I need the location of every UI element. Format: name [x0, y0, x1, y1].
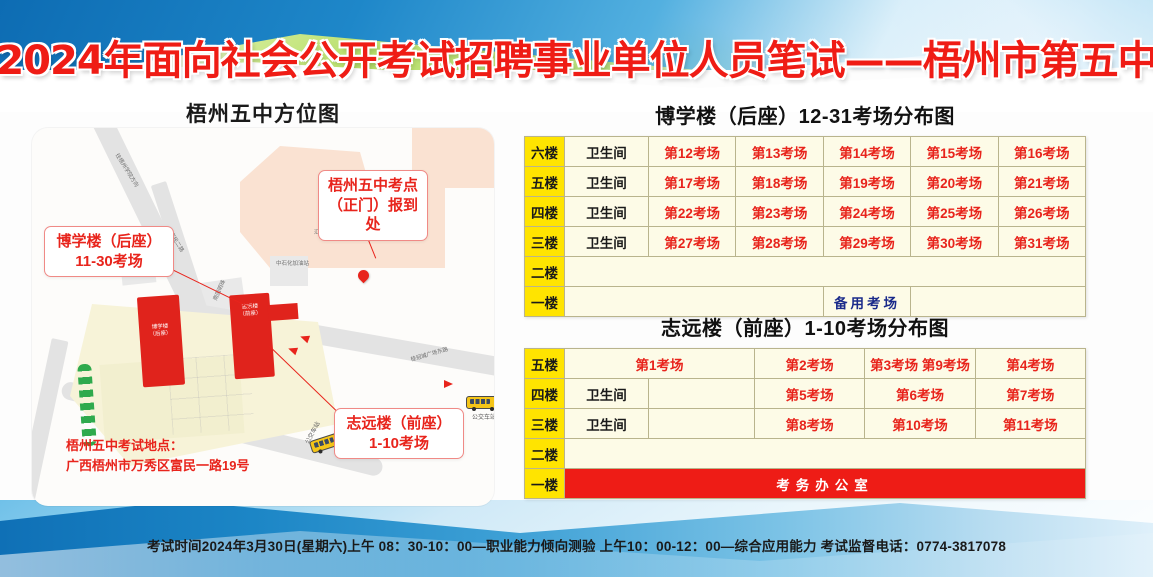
floor-label: 六楼: [525, 137, 565, 167]
cell-room: 第30考场: [911, 227, 998, 257]
cell-empty: [649, 379, 755, 409]
cell-empty: [565, 257, 1086, 287]
map-building-connector: [267, 303, 298, 321]
cell-exam-office: 考务办公室: [565, 469, 1086, 499]
cell-room: 第24考场: [823, 197, 910, 227]
cell-room: 第1考场: [565, 349, 755, 379]
table-row: 二楼: [525, 439, 1086, 469]
map-title: 梧州五中方位图: [22, 98, 504, 128]
floor-label: 二楼: [525, 257, 565, 287]
floor-label: 二楼: [525, 439, 565, 469]
map-label-sinopec: 中石化加油站: [276, 260, 309, 268]
cell-room: 第7考场: [975, 379, 1085, 409]
callout-boxue-line2: 11-30考场: [75, 253, 143, 270]
cell-room: 第29考场: [823, 227, 910, 257]
bus-stop-label-east: 公交车站: [472, 412, 494, 421]
table-boxue-title: 博学楼（后座）12-31考场分布图: [524, 100, 1086, 129]
floor-label: 四楼: [525, 197, 565, 227]
cell-room: 第21考场: [998, 167, 1085, 197]
floor-label: 一楼: [525, 469, 565, 499]
table-row: 四楼 卫生间 第5考场 第6考场 第7考场: [525, 379, 1086, 409]
cell-empty: [565, 439, 1086, 469]
poster-root: 梧州市2024年面向社会公开考试招聘事业单位人员笔试——梧州市第五中学考点 梧州…: [0, 0, 1153, 577]
cell-restroom: 卫生间: [565, 197, 649, 227]
cell-restroom: 卫生间: [565, 137, 649, 167]
cell-room: 第19考场: [823, 167, 910, 197]
map-address-line2: 广西梧州市万秀区富民一路19号: [66, 456, 249, 476]
footer-notice: 考试时间2024年3月30日(星期六)上午 08：30-10：00—职业能力倾向…: [0, 535, 1153, 555]
cell-room: 第31考场: [998, 227, 1085, 257]
map-address: 梧州五中考试地点： 广西梧州市万秀区富民一路19号: [66, 436, 249, 476]
map-road-west-vertical: [32, 338, 68, 506]
cell-room: 第4考场: [975, 349, 1085, 379]
floor-label: 五楼: [525, 349, 565, 379]
table-zhiyuan: 五楼 第1考场 第2考场 第3考场 第9考场 第4考场 四楼 卫生间 第5考场 …: [524, 348, 1086, 499]
callout-zhiyuan-line2: 1-10考场: [369, 435, 429, 452]
map-direction-arrow: [444, 380, 453, 388]
map-building-boxue[interactable]: 博学楼 （后座）: [137, 295, 185, 388]
cell-room: 第28考场: [736, 227, 823, 257]
table-boxue: 六楼 卫生间 第12考场 第13考场 第14考场 第15考场 第16考场 五楼 …: [524, 136, 1086, 317]
map-address-line1: 梧州五中考试地点：: [66, 436, 249, 456]
cell-room: 第27考场: [649, 227, 736, 257]
cell-room: 第2考场: [755, 349, 865, 379]
map-panel: 梧州五中方位图 博学楼 （后座）: [22, 96, 504, 508]
callout-entrance-line2: （正门）报到处: [328, 197, 418, 234]
callout-zhiyuan-line1: 志远楼（前座）: [346, 415, 451, 432]
cell-room: 第5考场: [755, 379, 865, 409]
cell-restroom: 卫生间: [565, 227, 649, 257]
callout-boxue[interactable]: 博学楼（后座） 11-30考场: [44, 226, 174, 277]
cell-room: 第12考场: [649, 137, 736, 167]
cell-room: 第6考场: [865, 379, 975, 409]
cell-room: 第22考场: [649, 197, 736, 227]
cell-room: 第13考场: [736, 137, 823, 167]
table-row: 五楼 卫生间 第17考场 第18考场 第19考场 第20考场 第21考场: [525, 167, 1086, 197]
cell-restroom: 卫生间: [565, 379, 649, 409]
table-row: 一楼 考务办公室: [525, 469, 1086, 499]
cell-room: 第23考场: [736, 197, 823, 227]
poster-title-bar: 梧州市2024年面向社会公开考试招聘事业单位人员笔试——梧州市第五中学考点: [0, 26, 1153, 88]
cell-room: 第15考场: [911, 137, 998, 167]
cell-room: 第17考场: [649, 167, 736, 197]
floor-label: 三楼: [525, 409, 565, 439]
cell-room: 第25考场: [911, 197, 998, 227]
table-row: 六楼 卫生间 第12考场 第13考场 第14考场 第15考场 第16考场: [525, 137, 1086, 167]
cell-room: 第14考场: [823, 137, 910, 167]
cell-restroom: 卫生间: [565, 409, 649, 439]
cell-room: 第3考场 第9考场: [865, 349, 975, 379]
page-title: 梧州市2024年面向社会公开考试招聘事业单位人员笔试——梧州市第五中学考点: [0, 28, 1153, 86]
table-zhiyuan-wrapper: 志远楼（前座）1-10考场分布图 五楼 第1考场 第2考场 第3考场 第9考场 …: [524, 312, 1086, 499]
floor-label: 四楼: [525, 379, 565, 409]
map-building-boxue-label-1: 博学楼: [152, 323, 169, 330]
cell-room: 第26考场: [998, 197, 1085, 227]
map-building-boxue-label-2: （后座）: [149, 331, 171, 339]
callout-zhiyuan[interactable]: 志远楼（前座） 1-10考场: [334, 408, 464, 459]
cell-restroom: 卫生间: [565, 167, 649, 197]
cell-room: 第20考场: [911, 167, 998, 197]
table-boxue-wrapper: 博学楼（后座）12-31考场分布图 六楼 卫生间 第12考场 第13考场 第14…: [524, 100, 1086, 317]
cell-room: 第18考场: [736, 167, 823, 197]
table-row: 三楼 卫生间 第8考场 第10考场 第11考场: [525, 409, 1086, 439]
callout-boxue-line1: 博学楼（后座）: [56, 233, 161, 250]
table-row: 四楼 卫生间 第22考场 第23考场 第24考场 第25考场 第26考场: [525, 197, 1086, 227]
map-building-zhiyuan-label-2: （前座）: [239, 311, 261, 319]
callout-entrance-line1: 梧州五中考点: [328, 177, 418, 194]
floor-label: 五楼: [525, 167, 565, 197]
cell-empty: [649, 409, 755, 439]
callout-entrance[interactable]: 梧州五中考点 （正门）报到处: [318, 170, 428, 241]
table-zhiyuan-title: 志远楼（前座）1-10考场分布图: [524, 312, 1086, 341]
floor-label: 三楼: [525, 227, 565, 257]
table-row: 五楼 第1考场 第2考场 第3考场 第9考场 第4考场: [525, 349, 1086, 379]
cell-room: 第16考场: [998, 137, 1085, 167]
bus-icon-east: [466, 396, 494, 409]
cell-room: 第11考场: [975, 409, 1085, 439]
cell-room: 第8考场: [755, 409, 865, 439]
table-row: 二楼: [525, 257, 1086, 287]
table-row: 三楼 卫生间 第27考场 第28考场 第29考场 第30考场 第31考场: [525, 227, 1086, 257]
map-pin-entrance[interactable]: [356, 268, 372, 284]
cell-room: 第10考场: [865, 409, 975, 439]
